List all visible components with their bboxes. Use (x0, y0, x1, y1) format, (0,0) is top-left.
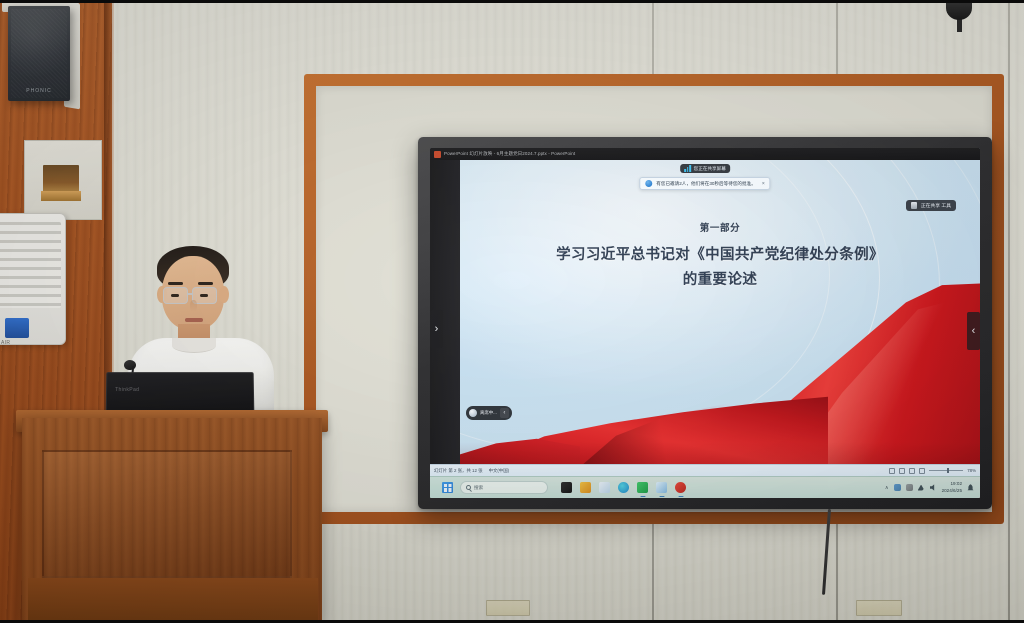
status-bar-right-group[interactable]: 78% (889, 468, 976, 474)
screen-share-banner-text: 您正在共享屏幕 (694, 166, 726, 172)
ac-vents (0, 222, 61, 308)
speaker-brand-label: PHONIC (26, 88, 51, 94)
view-sorter-button[interactable] (899, 468, 905, 474)
tray-app-icon[interactable] (906, 484, 913, 491)
user-join-icon (645, 180, 652, 187)
view-slideshow-button[interactable] (919, 468, 925, 474)
windows-taskbar: 搜索 ∧ (430, 476, 980, 498)
powerpoint-title-text: PowerPoint 幻灯片放映 - 6月主题党日2024.7.pptx - P… (444, 151, 575, 157)
start-button-icon[interactable] (442, 482, 453, 493)
presenter-eye-left (171, 294, 179, 297)
presenter-collar (172, 338, 216, 353)
presenter-laptop-screen[interactable]: ThinkPad (106, 372, 255, 414)
app-gold-icon[interactable] (580, 482, 591, 493)
ac-label: AIR (1, 340, 10, 346)
slide-counter: 幻灯片 第 2 张，共 12 张 (434, 468, 483, 474)
speaker-grill (11, 9, 67, 98)
powerpoint-icon (434, 151, 441, 158)
presenter-ear-right (219, 286, 229, 303)
powerpoint-taskbar-icon[interactable] (675, 482, 686, 493)
slide-canvas[interactable]: 第一部分 学习习近平总书记对《中国共产党纪律处分条例》 的重要论述 (460, 160, 980, 498)
taskbar-main-group: 搜索 (442, 481, 686, 494)
presenter-brow-right (198, 282, 213, 285)
browser-edge-icon[interactable] (618, 482, 629, 493)
tv-screen[interactable]: PowerPoint 幻灯片放映 - 6月主题党日2024.7.pptx - P… (430, 148, 980, 498)
wechat-icon[interactable] (637, 482, 648, 493)
zoom-slider[interactable] (929, 470, 963, 471)
language-indicator[interactable]: 中文(中国) (489, 468, 510, 474)
view-reading-button[interactable] (909, 468, 915, 474)
collapse-widget-button[interactable]: ‹ (500, 408, 509, 418)
glasses-bridge (188, 293, 192, 295)
close-icon[interactable]: × (762, 181, 765, 187)
screen-share-banner[interactable]: 您正在共享屏幕 (680, 164, 730, 173)
view-normal-button[interactable] (889, 468, 895, 474)
conference-room-photo: PHONIC AIR PowerPoint 幻灯片放映 - 6月主题党日2024… (0, 0, 1024, 623)
next-slide-chevron-icon[interactable]: ‹ (967, 312, 980, 350)
wall-access-panel (24, 140, 102, 220)
podium-base (28, 578, 318, 623)
system-tray: ∧ 19:02 2024/6/25 (885, 481, 974, 494)
powerpoint-status-bar: 幻灯片 第 2 张，共 12 张 中文(中国) 78% (430, 464, 980, 476)
podium-front-panel (42, 450, 292, 578)
powerpoint-window: 第一部分 学习习近平总书记对《中国共产党纪律处分条例》 的重要论述 (430, 160, 980, 498)
wall-seam (1008, 0, 1010, 623)
floating-presenter-widget[interactable]: 离席中... ‹ (466, 406, 512, 420)
floating-widget-label: 离席中... (480, 410, 497, 416)
photo-letterbox-top (0, 0, 1024, 3)
wall-outlet (856, 600, 902, 616)
wall-speaker: PHONIC (8, 6, 70, 101)
notification-toast[interactable]: 有您已邀请2人，他们将在30秒后等待您的批准。 × (639, 177, 770, 190)
access-panel-opening-lip (41, 191, 81, 201)
notification-toast-text: 有您已邀请2人，他们将在30秒后等待您的批准。 (656, 181, 756, 187)
presenter-mouth (185, 318, 203, 322)
presenter-eye-right (200, 294, 208, 297)
file-explorer-icon[interactable] (561, 482, 572, 493)
sharing-tools-label: 正在共享 工具 (921, 202, 951, 209)
mail-icon[interactable] (656, 482, 667, 493)
tray-app-icon[interactable] (894, 484, 901, 491)
app-cloud-icon[interactable] (599, 482, 610, 493)
zoom-level-label: 78% (967, 468, 976, 473)
signal-bars-icon (684, 166, 691, 172)
search-placeholder: 搜索 (474, 485, 483, 491)
notifications-icon[interactable] (967, 484, 974, 492)
zoom-slider-knob[interactable] (947, 468, 949, 473)
os-desktop: PowerPoint 幻灯片放映 - 6月主题党日2024.7.pptx - P… (430, 148, 980, 498)
clock-date: 2024/6/25 (942, 488, 962, 495)
volume-icon[interactable] (930, 484, 937, 491)
powerpoint-titlebar: PowerPoint 幻灯片放映 - 6月主题党日2024.7.pptx - P… (430, 148, 980, 160)
laptop-brand-label: ThinkPad (115, 387, 139, 393)
slide-title-line-1: 学习习近平总书记对《中国共产党纪律处分条例》 (460, 243, 980, 268)
taskbar-app-icons (561, 482, 686, 493)
previous-slide-chevron-icon[interactable]: › (430, 310, 443, 348)
camera-icon (911, 202, 917, 209)
search-input[interactable]: 搜索 (460, 481, 548, 494)
ac-badge (5, 318, 29, 338)
air-conditioner: AIR (0, 213, 66, 345)
avatar-icon (469, 409, 477, 417)
wall-outlet (486, 600, 530, 616)
slide-part-label: 第一部分 (460, 220, 980, 234)
presenter-nose (190, 300, 197, 312)
sharing-tools-pill[interactable]: 正在共享 工具 (906, 200, 956, 211)
clock[interactable]: 19:02 2024/6/25 (942, 481, 962, 494)
presenter-brow-left (168, 282, 183, 285)
network-icon[interactable] (918, 485, 925, 491)
microphone-head (124, 360, 136, 370)
search-icon (466, 485, 471, 490)
chevron-up-icon[interactable]: ∧ (885, 485, 889, 491)
